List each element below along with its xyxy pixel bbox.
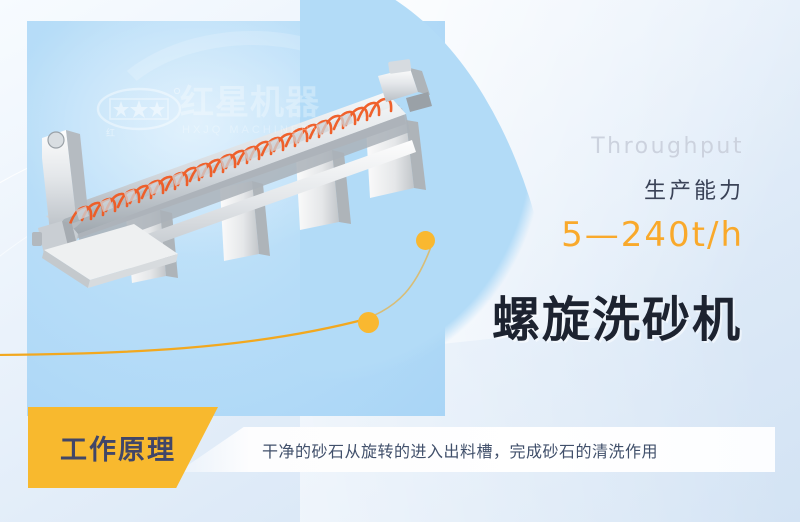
working-principle-description: 干净的砂石从旋转的进入出料槽，完成砂石的清洗作用: [262, 438, 658, 462]
working-principle-tag-label: 工作原理: [60, 428, 176, 467]
throughput-chinese-label: 生产能力: [561, 173, 744, 205]
banner-canvas: 红 红星机器 HXJQ MACHINERY Throughput 生产能力 5—…: [0, 0, 800, 522]
working-principle-description-band: 干净的砂石从旋转的进入出料槽，完成砂石的清洗作用: [178, 427, 775, 472]
throughput-spec-block: Throughput 生产能力 5—240t/h: [561, 134, 744, 255]
throughput-english-label: Throughput: [561, 134, 744, 159]
throughput-value: 5—240t/h: [561, 215, 744, 255]
accent-dot-lower: [358, 312, 379, 333]
product-title: 螺旋洗砂机: [492, 296, 742, 344]
accent-dot-upper: [416, 231, 435, 250]
orange-accent-curve: [0, 230, 460, 390]
